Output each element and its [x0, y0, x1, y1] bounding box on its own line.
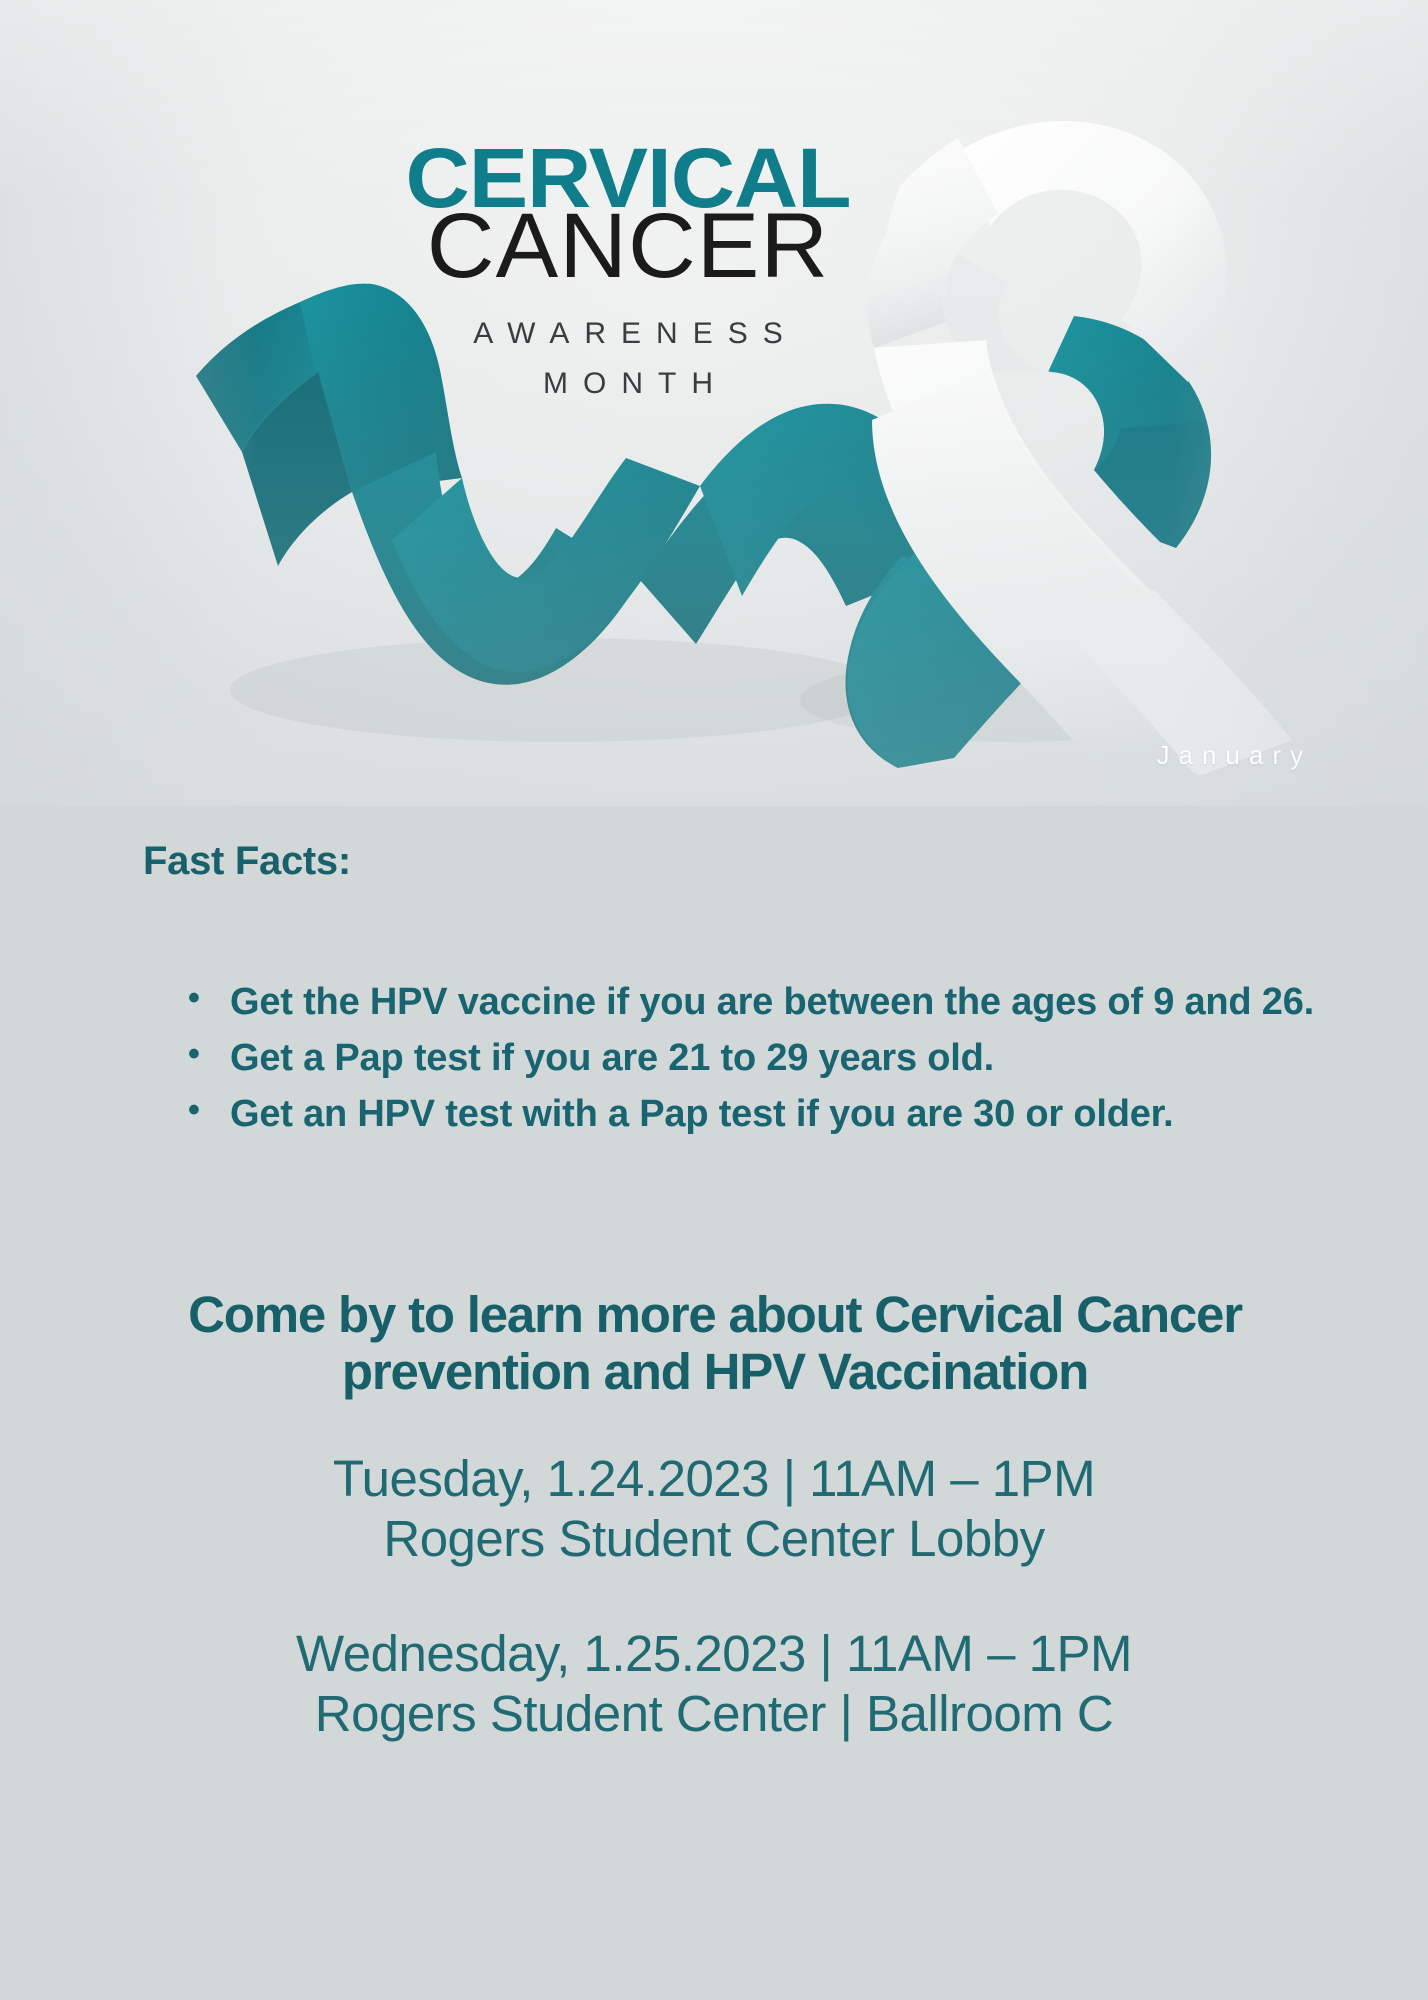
flyer-page: CERVICAL CANCER AWARENESS MONTH January …	[0, 0, 1428, 2000]
banner-title-cancer: CANCER	[312, 203, 944, 290]
list-item: Get an HPV test with a Pap test if you a…	[230, 1088, 1390, 1142]
fast-facts-heading: Fast Facts:	[143, 839, 351, 884]
banner-month-tag: January	[1157, 740, 1313, 771]
list-item: Get a Pap test if you are 21 to 29 years…	[230, 1032, 1390, 1086]
event-details-1: Tuesday, 1.24.2023 | 11AM – 1PM Rogers S…	[0, 1449, 1428, 1569]
event-1-location: Rogers Student Center Lobby	[0, 1509, 1428, 1569]
event-1-datetime: Tuesday, 1.24.2023 | 11AM – 1PM	[0, 1449, 1428, 1509]
banner-subtitle-month: MONTH	[318, 367, 938, 401]
banner-subtitle-awareness: AWARENESS	[318, 317, 938, 351]
event-2-location: Rogers Student Center | Ballroom C	[0, 1684, 1428, 1744]
list-item: Get the HPV vaccine if you are between t…	[230, 976, 1390, 1030]
event-details-2: Wednesday, 1.25.2023 | 11AM – 1PM Rogers…	[0, 1624, 1428, 1744]
cta-line-2: prevention and HPV Vaccination	[342, 1343, 1088, 1400]
cta-line-1: Come by to learn more about Cervical Can…	[188, 1286, 1242, 1343]
banner-wordmark: CERVICAL CANCER AWARENESS MONTH	[318, 140, 938, 401]
fast-facts-list: Get the HPV vaccine if you are between t…	[170, 976, 1390, 1144]
content-section: Fast Facts: Get the HPV vaccine if you a…	[0, 806, 1428, 2000]
event-2-datetime: Wednesday, 1.25.2023 | 11AM – 1PM	[0, 1624, 1428, 1684]
awareness-ribbon-illustration	[0, 0, 1428, 806]
call-to-action-heading: Come by to learn more about Cervical Can…	[60, 1286, 1370, 1400]
hero-banner: CERVICAL CANCER AWARENESS MONTH January	[0, 0, 1428, 806]
